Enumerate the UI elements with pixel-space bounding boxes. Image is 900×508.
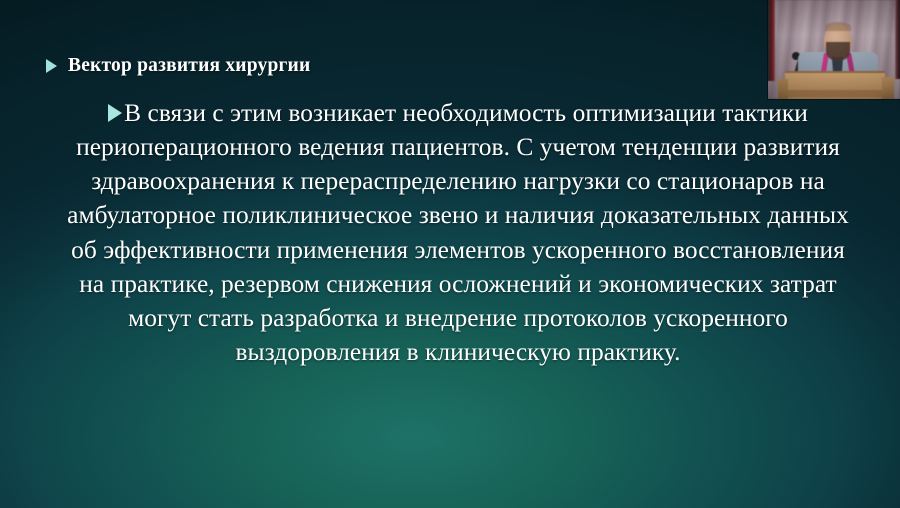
slide-title-row: Вектор развития хирургии (46, 55, 310, 77)
body-paragraph: В связи с этим возникает необходимость о… (58, 96, 858, 369)
presentation-slide: Вектор развития хирургии В связи с этим … (0, 0, 900, 508)
page-title: Вектор развития хирургии (68, 55, 310, 77)
triangle-right-icon (46, 59, 57, 73)
body-text: В связи с этим возникает необходимость о… (67, 99, 849, 366)
triangle-right-icon (108, 104, 122, 122)
video-soft-overlay (768, 0, 900, 99)
speaker-video-overlay[interactable] (768, 0, 900, 99)
slide-body-block: В связи с этим возникает необходимость о… (58, 96, 858, 369)
